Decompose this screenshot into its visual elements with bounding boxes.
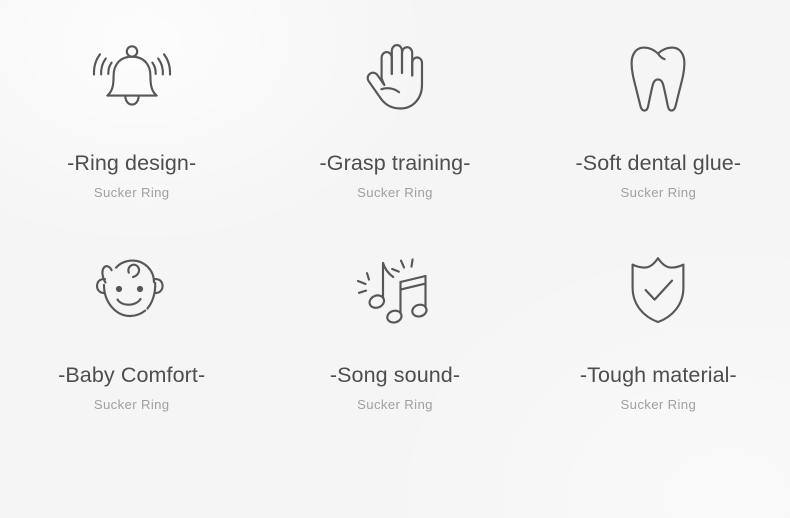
feature-card-grasp-training: -Grasp training- Sucker Ring <box>263 36 526 248</box>
feature-subtitle: Sucker Ring <box>357 186 433 199</box>
feature-title: -Tough material- <box>580 365 737 387</box>
feature-title: -Song sound- <box>330 365 460 387</box>
hand-icon <box>359 36 431 120</box>
feature-subtitle: Sucker Ring <box>94 186 170 199</box>
feature-subtitle: Sucker Ring <box>357 398 433 411</box>
feature-card-soft-dental-glue: -Soft dental glue- Sucker Ring <box>527 36 790 248</box>
feature-card-ring-design: -Ring design- Sucker Ring <box>0 36 263 248</box>
feature-subtitle: Sucker Ring <box>94 398 170 411</box>
feature-title: -Baby Comfort- <box>58 365 205 387</box>
feature-title: -Ring design- <box>67 153 196 175</box>
music-note-icon <box>356 248 434 332</box>
bell-icon <box>93 36 171 120</box>
feature-grid: -Ring design- Sucker Ring -Grasp trainin… <box>0 0 790 518</box>
feature-card-song-sound: -Song sound- Sucker Ring <box>263 248 526 460</box>
feature-title: -Grasp training- <box>320 153 471 175</box>
feature-card-baby-comfort: -Baby Comfort- Sucker Ring <box>0 248 263 460</box>
feature-card-tough-material: -Tough material- Sucker Ring <box>527 248 790 460</box>
baby-face-icon <box>94 248 170 332</box>
shield-check-icon <box>625 248 691 332</box>
tooth-icon <box>628 36 688 120</box>
feature-subtitle: Sucker Ring <box>620 398 696 411</box>
feature-subtitle: Sucker Ring <box>620 186 696 199</box>
feature-title: -Soft dental glue- <box>576 153 742 175</box>
